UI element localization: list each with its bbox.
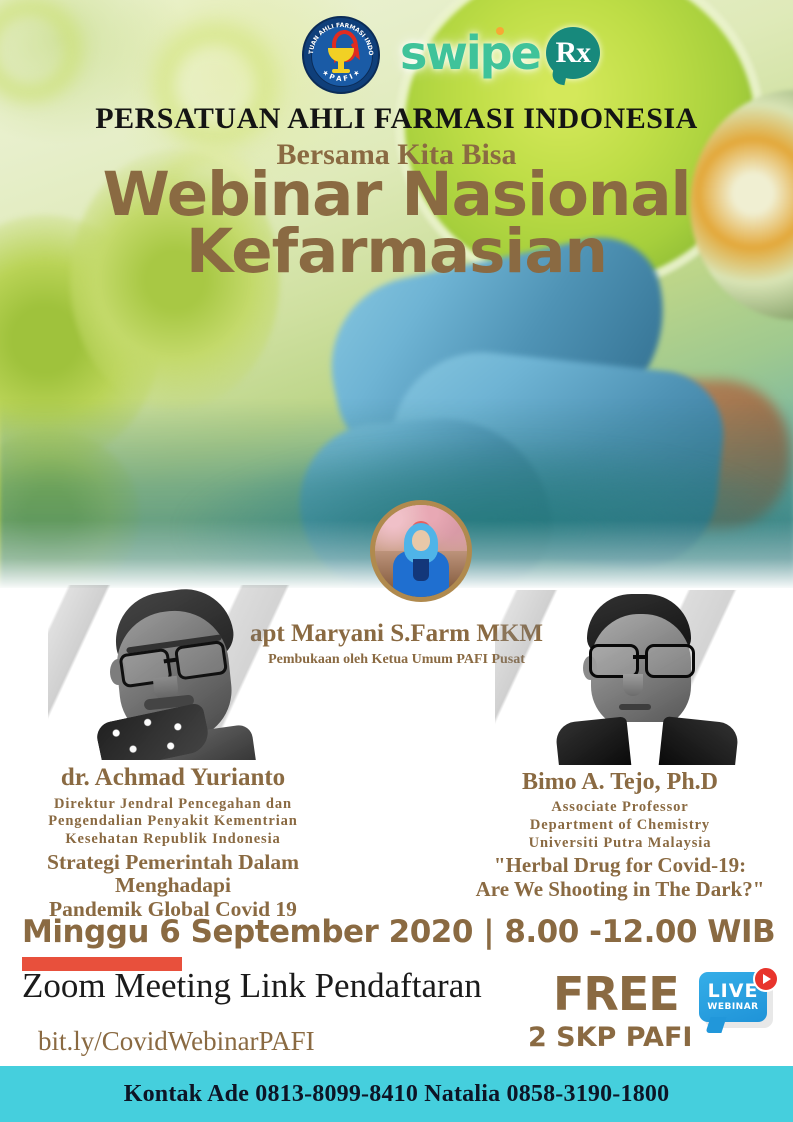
speaker-topic-line: "Herbal Drug for Covid-19:	[455, 854, 785, 877]
speaker-title-line: Direktur Jendral Pencegahan dan	[8, 796, 338, 814]
face-graphic	[412, 530, 430, 551]
eyeglasses-icon	[589, 644, 695, 674]
speaker-card-left: dr. Achmad Yurianto Direktur Jendral Pen…	[8, 585, 338, 921]
play-button-icon	[753, 966, 779, 992]
rx-speech-bubble-icon: Rx	[546, 27, 600, 79]
speaker-name-left: dr. Achmad Yurianto	[8, 764, 338, 792]
speaker-topic-right: "Herbal Drug for Covid-19: Are We Shooti…	[455, 854, 785, 900]
suit-lapel-graphic	[555, 716, 632, 765]
swiperx-logo: swipe Rx	[400, 24, 600, 82]
speaker-card-right: Bimo A. Tejo, Ph.D Associate Professor D…	[455, 590, 785, 901]
speaker-title-line: Department of Chemistry	[455, 817, 785, 835]
speaker-title-line: Associate Professor	[455, 799, 785, 817]
registration-link[interactable]: bit.ly/CovidWebinarPAFI	[38, 1026, 315, 1057]
rx-label: Rx	[555, 38, 590, 68]
speaker-title-line: Pengendalian Penyakit Kementrian	[8, 813, 338, 831]
center-speaker-avatar	[370, 500, 472, 602]
organization-name: PERSATUAN AHLI FARMASI INDONESIA	[0, 102, 793, 136]
badge-webinar-label: WEBINAR	[707, 1003, 758, 1012]
mouth-graphic	[619, 704, 651, 710]
badge-live-label: LIVE	[708, 982, 759, 1001]
pafi-logo-icon: PERSATUAN AHLI FARMASI INDONESIA ★ P A F…	[302, 16, 380, 94]
credits-label: 2 SKP PAFI	[528, 1022, 692, 1053]
speaker-title-line: Kesehatan Republik Indonesia	[8, 831, 338, 849]
webinar-poster: PERSATUAN AHLI FARMASI INDONESIA ★ P A F…	[0, 0, 793, 1122]
contact-text: Kontak Ade 0813-8099-8410 Natalia 0858-3…	[124, 1081, 670, 1108]
live-webinar-badge: LIVE WEBINAR	[699, 972, 777, 1044]
speaker-portrait-left	[48, 585, 298, 760]
swiperx-wordmark: swipe	[400, 30, 540, 76]
logo-row: PERSATUAN AHLI FARMASI INDONESIA ★ P A F…	[0, 8, 793, 92]
platform-registration-label: Zoom Meeting Link Pendaftaran	[22, 966, 482, 1006]
speaker-topic-left: Strategi Pemerintah Dalam Menghadapi Pan…	[8, 851, 338, 922]
speaker-title-line: Universiti Putra Malaysia	[455, 835, 785, 853]
speaker-title-right: Associate Professor Department of Chemis…	[455, 799, 785, 852]
speaker-name-right: Bimo A. Tejo, Ph.D	[455, 769, 785, 795]
speaker-title-left: Direktur Jendral Pencegahan dan Pengenda…	[8, 796, 338, 849]
footer-contact-bar: Kontak Ade 0813-8099-8410 Natalia 0858-3…	[0, 1066, 793, 1122]
suit-lapel-graphic	[659, 716, 740, 765]
center-speaker-photo	[375, 505, 467, 597]
speaker-topic-line: Are We Shooting in The Dark?"	[455, 878, 785, 901]
title-line-2: Kefarmasian	[0, 223, 793, 280]
hygieia-bowl-base	[332, 69, 350, 73]
page-title: Webinar Nasional Kefarmasian	[0, 166, 793, 281]
speaker-topic-line: Strategi Pemerintah Dalam Menghadapi	[8, 851, 338, 898]
event-datetime: Minggu 6 September 2020 | 8.00 -12.00 WI…	[22, 914, 775, 950]
speaker-portrait-right	[495, 590, 745, 765]
price-label: FREE	[553, 967, 679, 1021]
jacket-collar	[413, 559, 429, 581]
nose-graphic	[623, 674, 643, 696]
swiperx-dot-icon	[496, 27, 504, 35]
